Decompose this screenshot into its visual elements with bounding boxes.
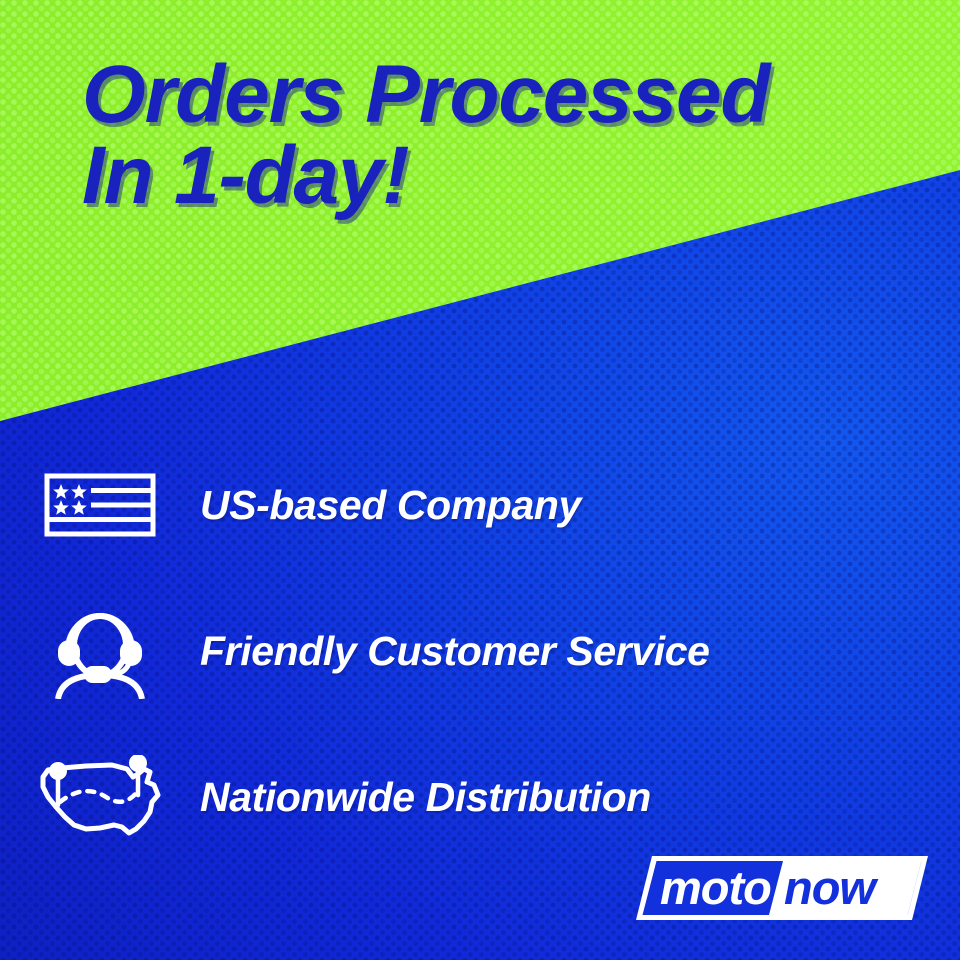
page-title: Orders Processed In 1-day! [82,54,922,216]
feature-label: US-based Company [200,482,581,529]
list-item: Friendly Customer Service [0,578,960,724]
headset-support-icon [0,599,200,703]
motonow-logo: moto now [636,852,928,924]
feature-label: Friendly Customer Service [200,628,710,675]
us-flag-icon [0,453,200,557]
promo-poster: Orders Processed In 1-day! [0,0,960,960]
us-map-pins-icon [0,745,200,849]
list-item: Nationwide Distribution [0,724,960,870]
feature-list: US-based Company [0,432,960,870]
logo-word-moto: moto [660,861,771,914]
list-item: US-based Company [0,432,960,578]
feature-label: Nationwide Distribution [200,774,651,821]
logo-word-now: now [784,861,879,914]
